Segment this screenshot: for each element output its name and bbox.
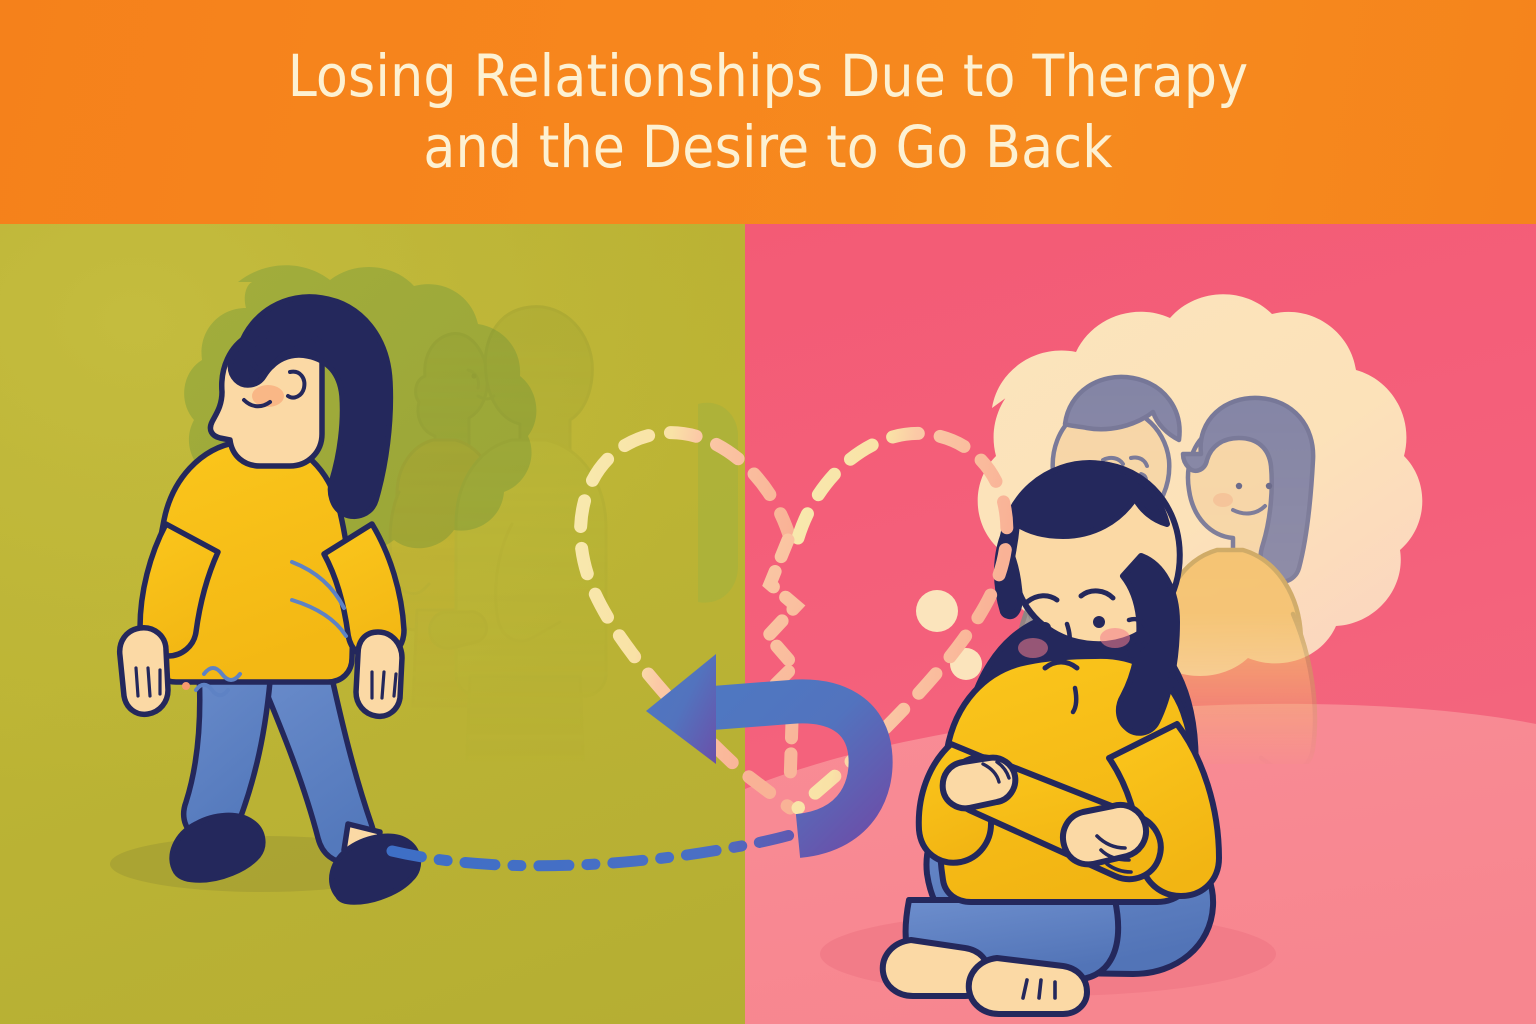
infographic-canvas: Losing Relationships Due to Therapy and …	[0, 0, 1536, 1024]
faded-couple-silhouette	[390, 307, 606, 782]
page-title-line-1: Losing Relationships Due to Therapy	[288, 44, 1249, 109]
right-scene-illustration	[745, 224, 1536, 1024]
tree-canopy-secondary	[698, 403, 738, 603]
left-scene-illustration	[0, 224, 745, 1024]
right-panel-desire-to-go-back-scene	[745, 224, 1536, 1024]
walking-woman-figure	[120, 297, 419, 902]
page-title-line-2: and the Desire to Go Back	[423, 115, 1112, 180]
split-illustration-area: Wounded Child	[0, 224, 1536, 1024]
header-banner: Losing Relationships Due to Therapy and …	[0, 0, 1536, 224]
left-panel-wounded-child-scene: Wounded Child	[0, 224, 745, 1024]
